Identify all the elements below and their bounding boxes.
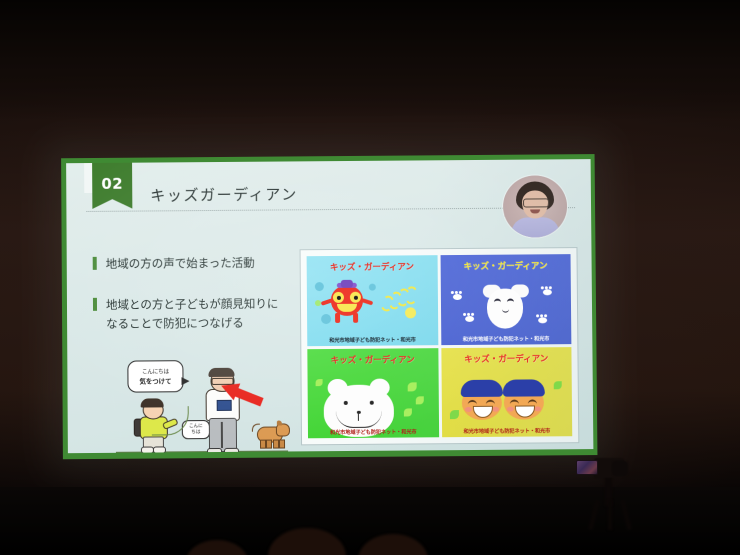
ribbon-tab-decoration xyxy=(84,161,93,193)
poster-title: キッズ・ガーディアン xyxy=(307,260,438,273)
slide-content: 02 キッズガーディアン 地域の方の声で始まった活動 xyxy=(66,159,593,453)
dog-leg xyxy=(279,439,285,448)
poster-card-children: キッズ・ガーディアン 和光市地域子ども防犯ネット・和光市 xyxy=(441,347,572,438)
poster-title: キッズ・ガーディアン xyxy=(440,259,571,272)
poster-title: キッズ・ガーディアン xyxy=(307,353,438,366)
bullet-list: 地域の方の声で始まった活動 地域との方と子どもが顔見知りに なることで防犯につな… xyxy=(93,253,302,356)
bullet-marker-icon xyxy=(93,298,97,311)
adult-leg-divider xyxy=(221,422,223,448)
avatar-glasses-icon xyxy=(523,198,549,207)
tripod-leg xyxy=(588,500,599,530)
tripod-leg xyxy=(620,500,631,530)
bullet-text: 地域との方と子どもが顔見知りに なることで防犯につなげる xyxy=(106,294,279,333)
avatar-torso xyxy=(511,217,559,237)
poster-caption: 和光市地域子ども防犯ネット・和光市 xyxy=(441,335,572,343)
speech-bubble-adult: こんにちは 気をつけて xyxy=(127,360,183,392)
bullet-marker-icon xyxy=(93,257,97,270)
list-item: 地域との方と子どもが顔見知りに なることで防犯につなげる xyxy=(93,294,301,334)
video-camera-rig xyxy=(582,452,642,527)
adult-id-badge xyxy=(217,400,232,411)
adult-shoe-left xyxy=(207,448,222,453)
list-item: 地域の方の声で始まった活動 xyxy=(93,253,301,274)
poster-caption: 和光市地域子ども防犯ネット・和光市 xyxy=(308,428,439,436)
speech-bubble-line1: こんにちは xyxy=(142,367,169,375)
dog-leg xyxy=(273,440,279,449)
ceiling-shadow xyxy=(0,0,740,120)
presenter-avatar xyxy=(503,175,568,237)
title-divider xyxy=(86,207,575,212)
section-number: 02 xyxy=(101,175,123,193)
poster-card-white-dog: キッズ・ガーディアン 和光市地域子ども防犯ネット・和光市 xyxy=(440,254,571,345)
poster-card-tomato: キッズ・ガーディアン 和光市地域子ども防犯ネット・和光市 xyxy=(307,255,438,346)
poster-caption: 和光市地域子ども防犯ネット・和光市 xyxy=(442,427,573,435)
poster-caption: 和光市地域子ども防犯ネット・和光市 xyxy=(307,336,438,344)
child-shoe-right xyxy=(153,446,166,453)
adult-hair xyxy=(208,368,234,377)
auditorium-photo: 02 キッズガーディアン 地域の方の声で始まった活動 xyxy=(0,0,740,555)
projected-slide: 02 キッズガーディアン 地域の方の声で始まった活動 xyxy=(61,154,597,459)
camera-viewfinder-screen xyxy=(576,460,598,475)
greeting-illustration: こんにちは 気をつけて こんに ちは xyxy=(115,357,288,453)
section-number-ribbon: 02 xyxy=(92,161,132,209)
tripod-leg xyxy=(608,500,612,530)
adult-shoe-right xyxy=(224,448,239,453)
poster-title: キッズ・ガーディアン xyxy=(441,352,572,365)
bullet-text: 地域の方の声で始まった活動 xyxy=(106,254,255,274)
dog-leg xyxy=(260,440,266,449)
poster-grid-frame: キッズ・ガーディアン 和光市地域子ども防犯ネット・和光市 xyxy=(300,247,580,445)
dog-figure-icon xyxy=(254,421,288,448)
camera-lens-icon xyxy=(612,461,628,476)
speech-bubble-line2: 気をつけて xyxy=(139,376,171,385)
slide-green-border: 02 キッズガーディアン 地域の方の声で始まった活動 xyxy=(61,154,597,459)
dog-leg xyxy=(266,440,272,449)
poster-grid: キッズ・ガーディアン 和光市地域子ども防犯ネット・和光市 xyxy=(307,254,573,438)
dog-ear xyxy=(277,420,282,425)
poster-card-bear: キッズ・ガーディアン 和光市地域子ども防犯ネット・和光市 xyxy=(307,348,438,439)
slide-title: キッズガーディアン xyxy=(150,183,298,205)
